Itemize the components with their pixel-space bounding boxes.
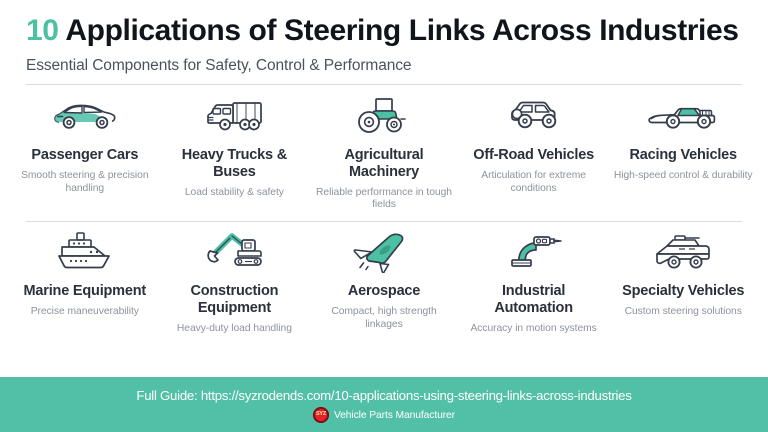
application-grid-row-2: Marine Equipment Precise maneuverability… xyxy=(0,228,768,335)
divider-top xyxy=(26,84,742,85)
application-grid-row-1: Passenger Cars Smooth steering & precisi… xyxy=(0,92,768,212)
brand-name: Vehicle Parts Manufacturer xyxy=(334,410,455,421)
offroad-suv-icon xyxy=(502,92,566,140)
ship-icon xyxy=(54,228,116,276)
card-description: Precise maneuverability xyxy=(31,306,139,319)
airplane-icon xyxy=(349,228,419,276)
card-description: Load stability & safety xyxy=(185,187,284,200)
card-description: Accuracy in motion systems xyxy=(470,323,596,336)
full-guide-link[interactable]: Full Guide: https://syzrodends.com/10-ap… xyxy=(136,388,631,403)
application-card-off-road-vehicles[interactable]: Off-Road Vehicles Articulation for extre… xyxy=(459,92,609,212)
card-title: Racing Vehicles xyxy=(629,147,736,164)
card-description: Custom steering solutions xyxy=(625,306,742,319)
tractor-icon xyxy=(354,92,414,140)
car-icon xyxy=(52,92,118,140)
card-title: Industrial Automation xyxy=(463,283,605,317)
application-card-heavy-trucks-buses[interactable]: Heavy Trucks & Buses Load stability & sa… xyxy=(160,92,310,212)
card-description: Reliable performance in tough fields xyxy=(313,187,455,213)
title-text: Applications of Steering Links Across In… xyxy=(65,14,738,47)
application-card-agricultural-machinery[interactable]: Agricultural Machinery Reliable performa… xyxy=(309,92,459,212)
footer-bar: Full Guide: https://syzrodends.com/10-ap… xyxy=(0,377,768,432)
divider-middle xyxy=(26,221,742,222)
application-card-marine-equipment[interactable]: Marine Equipment Precise maneuverability xyxy=(10,228,160,335)
application-card-construction-equipment[interactable]: Construction Equipment Heavy-duty load h… xyxy=(160,228,310,335)
syz-logo-icon: SYZ xyxy=(313,407,329,423)
application-card-aerospace[interactable]: Aerospace Compact, high strength linkage… xyxy=(309,228,459,335)
card-description: High-speed control & durability xyxy=(614,170,753,183)
application-card-passenger-cars[interactable]: Passenger Cars Smooth steering & precisi… xyxy=(10,92,160,212)
card-title: Marine Equipment xyxy=(24,283,146,300)
application-card-specialty-vehicles[interactable]: Specialty Vehicles Custom steering solut… xyxy=(608,228,758,335)
robot-arm-icon xyxy=(503,228,565,276)
page-title: 10 Applications of Steering Links Across… xyxy=(26,14,742,48)
card-title: Heavy Trucks & Buses xyxy=(164,147,306,181)
armored-vehicle-icon xyxy=(649,228,717,276)
race-car-icon xyxy=(648,92,718,140)
title-number: 10 xyxy=(26,14,59,47)
application-card-industrial-automation[interactable]: Industrial Automation Accuracy in motion… xyxy=(459,228,609,335)
card-description: Heavy-duty load handling xyxy=(177,323,292,336)
application-card-racing-vehicles[interactable]: Racing Vehicles High-speed control & dur… xyxy=(608,92,758,212)
card-description: Smooth steering & precision handling xyxy=(14,170,156,196)
page-subtitle: Essential Components for Safety, Control… xyxy=(26,57,742,75)
card-title: Passenger Cars xyxy=(31,147,138,164)
card-title: Off-Road Vehicles xyxy=(473,147,594,164)
card-title: Aerospace xyxy=(348,283,420,300)
card-title: Specialty Vehicles xyxy=(622,283,744,300)
card-title: Agricultural Machinery xyxy=(313,147,455,181)
card-title: Construction Equipment xyxy=(164,283,306,317)
card-description: Compact, high strength linkages xyxy=(313,306,455,332)
logo-text: SYZ xyxy=(316,412,326,417)
header: 10 Applications of Steering Links Across… xyxy=(0,0,768,75)
brand: SYZ Vehicle Parts Manufacturer xyxy=(313,407,455,423)
truck-icon xyxy=(203,92,265,140)
excavator-icon xyxy=(202,228,266,276)
card-description: Articulation for extreme conditions xyxy=(463,170,605,196)
